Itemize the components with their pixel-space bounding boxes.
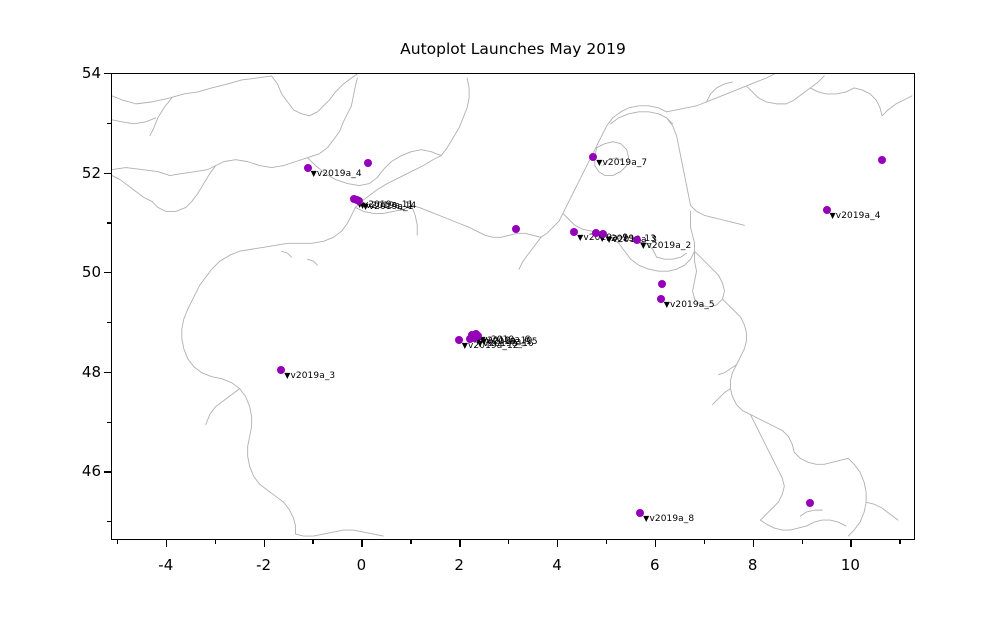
scatter-point-label: ▼v2019a_8 bbox=[643, 514, 694, 524]
label-text: v2019a_4 bbox=[836, 211, 881, 221]
y-axis-minor-tick bbox=[107, 521, 111, 522]
x-axis-minor-tick bbox=[508, 540, 509, 544]
x-axis-tick-label: -4 bbox=[158, 556, 173, 574]
y-axis-tick bbox=[104, 173, 111, 174]
label-text: v2019a_5 bbox=[670, 300, 715, 310]
x-axis-minor-tick bbox=[117, 540, 118, 544]
y-axis-minor-tick bbox=[107, 222, 111, 223]
y-axis-tick-label: 52 bbox=[59, 164, 101, 182]
x-axis-tick bbox=[361, 540, 362, 547]
x-axis-tick bbox=[655, 540, 656, 547]
label-text: v2019a_3 bbox=[290, 371, 335, 381]
x-axis-minor-tick bbox=[899, 540, 900, 544]
x-axis-tick-label: 10 bbox=[841, 556, 860, 574]
x-axis-minor-tick bbox=[312, 540, 313, 544]
scatter-point[interactable] bbox=[878, 156, 886, 164]
x-axis-tick-label: 8 bbox=[748, 556, 758, 574]
y-axis-tick-label: 54 bbox=[59, 64, 101, 82]
x-axis-minor-tick bbox=[606, 540, 607, 544]
label-text: v2019a_4 bbox=[317, 169, 362, 179]
scatter-point[interactable] bbox=[658, 280, 666, 288]
label-text: v2019a_1 bbox=[369, 202, 414, 212]
scatter-point[interactable] bbox=[466, 335, 474, 343]
y-axis-tick-label: 46 bbox=[59, 462, 101, 480]
y-axis-tick bbox=[104, 73, 111, 74]
y-axis-tick-label: 48 bbox=[59, 363, 101, 381]
x-axis-tick-label: -2 bbox=[256, 556, 271, 574]
scatter-point[interactable] bbox=[512, 225, 520, 233]
x-axis-minor-tick bbox=[802, 540, 803, 544]
x-axis-tick-label: 0 bbox=[357, 556, 367, 574]
scatter-point-label: ▼v2019a_4 bbox=[311, 169, 362, 179]
x-axis-minor-tick bbox=[410, 540, 411, 544]
x-axis-tick-label: 2 bbox=[454, 556, 464, 574]
label-text: v2019a_2 bbox=[647, 241, 692, 251]
scatter-points-layer: ▼v2019a_4▼v2019a_11▼v2019a_14▼v2019a_1▼v… bbox=[112, 74, 914, 539]
scatter-point-label: ▼v2019a_4 bbox=[830, 211, 881, 221]
y-axis-tick-label: 50 bbox=[59, 263, 101, 281]
scatter-point-label: ▼v2019a_2 bbox=[640, 241, 691, 251]
x-axis-tick-label: 6 bbox=[650, 556, 660, 574]
figure-canvas: Autoplot Launches May 2019 bbox=[0, 0, 1003, 633]
x-axis-minor-tick bbox=[215, 540, 216, 544]
y-axis-tick bbox=[104, 272, 111, 273]
scatter-point-label: ▼v2019a_1 bbox=[362, 202, 413, 212]
scatter-point[interactable] bbox=[364, 159, 372, 167]
x-axis-minor-tick bbox=[704, 540, 705, 544]
label-text: v2019a_8 bbox=[649, 514, 694, 524]
scatter-point-label: ▼v2019a_5 bbox=[664, 300, 715, 310]
x-axis-tick bbox=[557, 540, 558, 547]
scatter-point-label: ▼v2019a_7 bbox=[596, 158, 647, 168]
label-text: v2019a_16 bbox=[483, 339, 534, 349]
y-axis-tick bbox=[104, 471, 111, 472]
scatter-point-label: ▼v2019a_16 bbox=[477, 339, 534, 349]
plot-area: ▼v2019a_4▼v2019a_11▼v2019a_14▼v2019a_1▼v… bbox=[111, 73, 915, 540]
x-axis-tick bbox=[264, 540, 265, 547]
x-axis-tick bbox=[459, 540, 460, 547]
x-axis-tick-label: 4 bbox=[552, 556, 562, 574]
y-axis-minor-tick bbox=[107, 123, 111, 124]
scatter-point-label: ▼v2019a_3 bbox=[284, 371, 335, 381]
y-axis-minor-tick bbox=[107, 322, 111, 323]
page-title: Autoplot Launches May 2019 bbox=[111, 40, 915, 58]
label-text: v2019a_7 bbox=[602, 158, 647, 168]
x-axis-tick bbox=[166, 540, 167, 547]
y-axis-minor-tick bbox=[107, 422, 111, 423]
x-axis-tick bbox=[850, 540, 851, 547]
scatter-point[interactable] bbox=[806, 499, 814, 507]
x-axis-tick bbox=[753, 540, 754, 547]
y-axis-tick bbox=[104, 372, 111, 373]
